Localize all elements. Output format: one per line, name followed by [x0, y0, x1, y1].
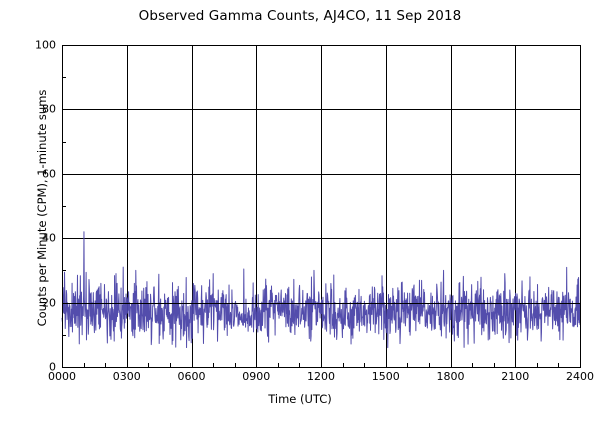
x-axis-title: Time (UTC) — [0, 392, 600, 406]
x-tick-label: 2100 — [501, 370, 529, 383]
x-tick-label: 0300 — [113, 370, 141, 383]
chart-figure: Observed Gamma Counts, AJ4CO, 11 Sep 201… — [0, 0, 600, 428]
x-tick-label: 1500 — [372, 370, 400, 383]
x-tick-label: 2400 — [566, 370, 594, 383]
plot-canvas — [0, 0, 600, 428]
x-tick-label: 0600 — [178, 370, 206, 383]
x-tick-label: 1800 — [437, 370, 465, 383]
y-axis-title: Counts per Minute (CPM), 1-minute sums — [35, 48, 49, 368]
x-tick-label: 1200 — [307, 370, 335, 383]
x-tick-label: 0900 — [242, 370, 270, 383]
